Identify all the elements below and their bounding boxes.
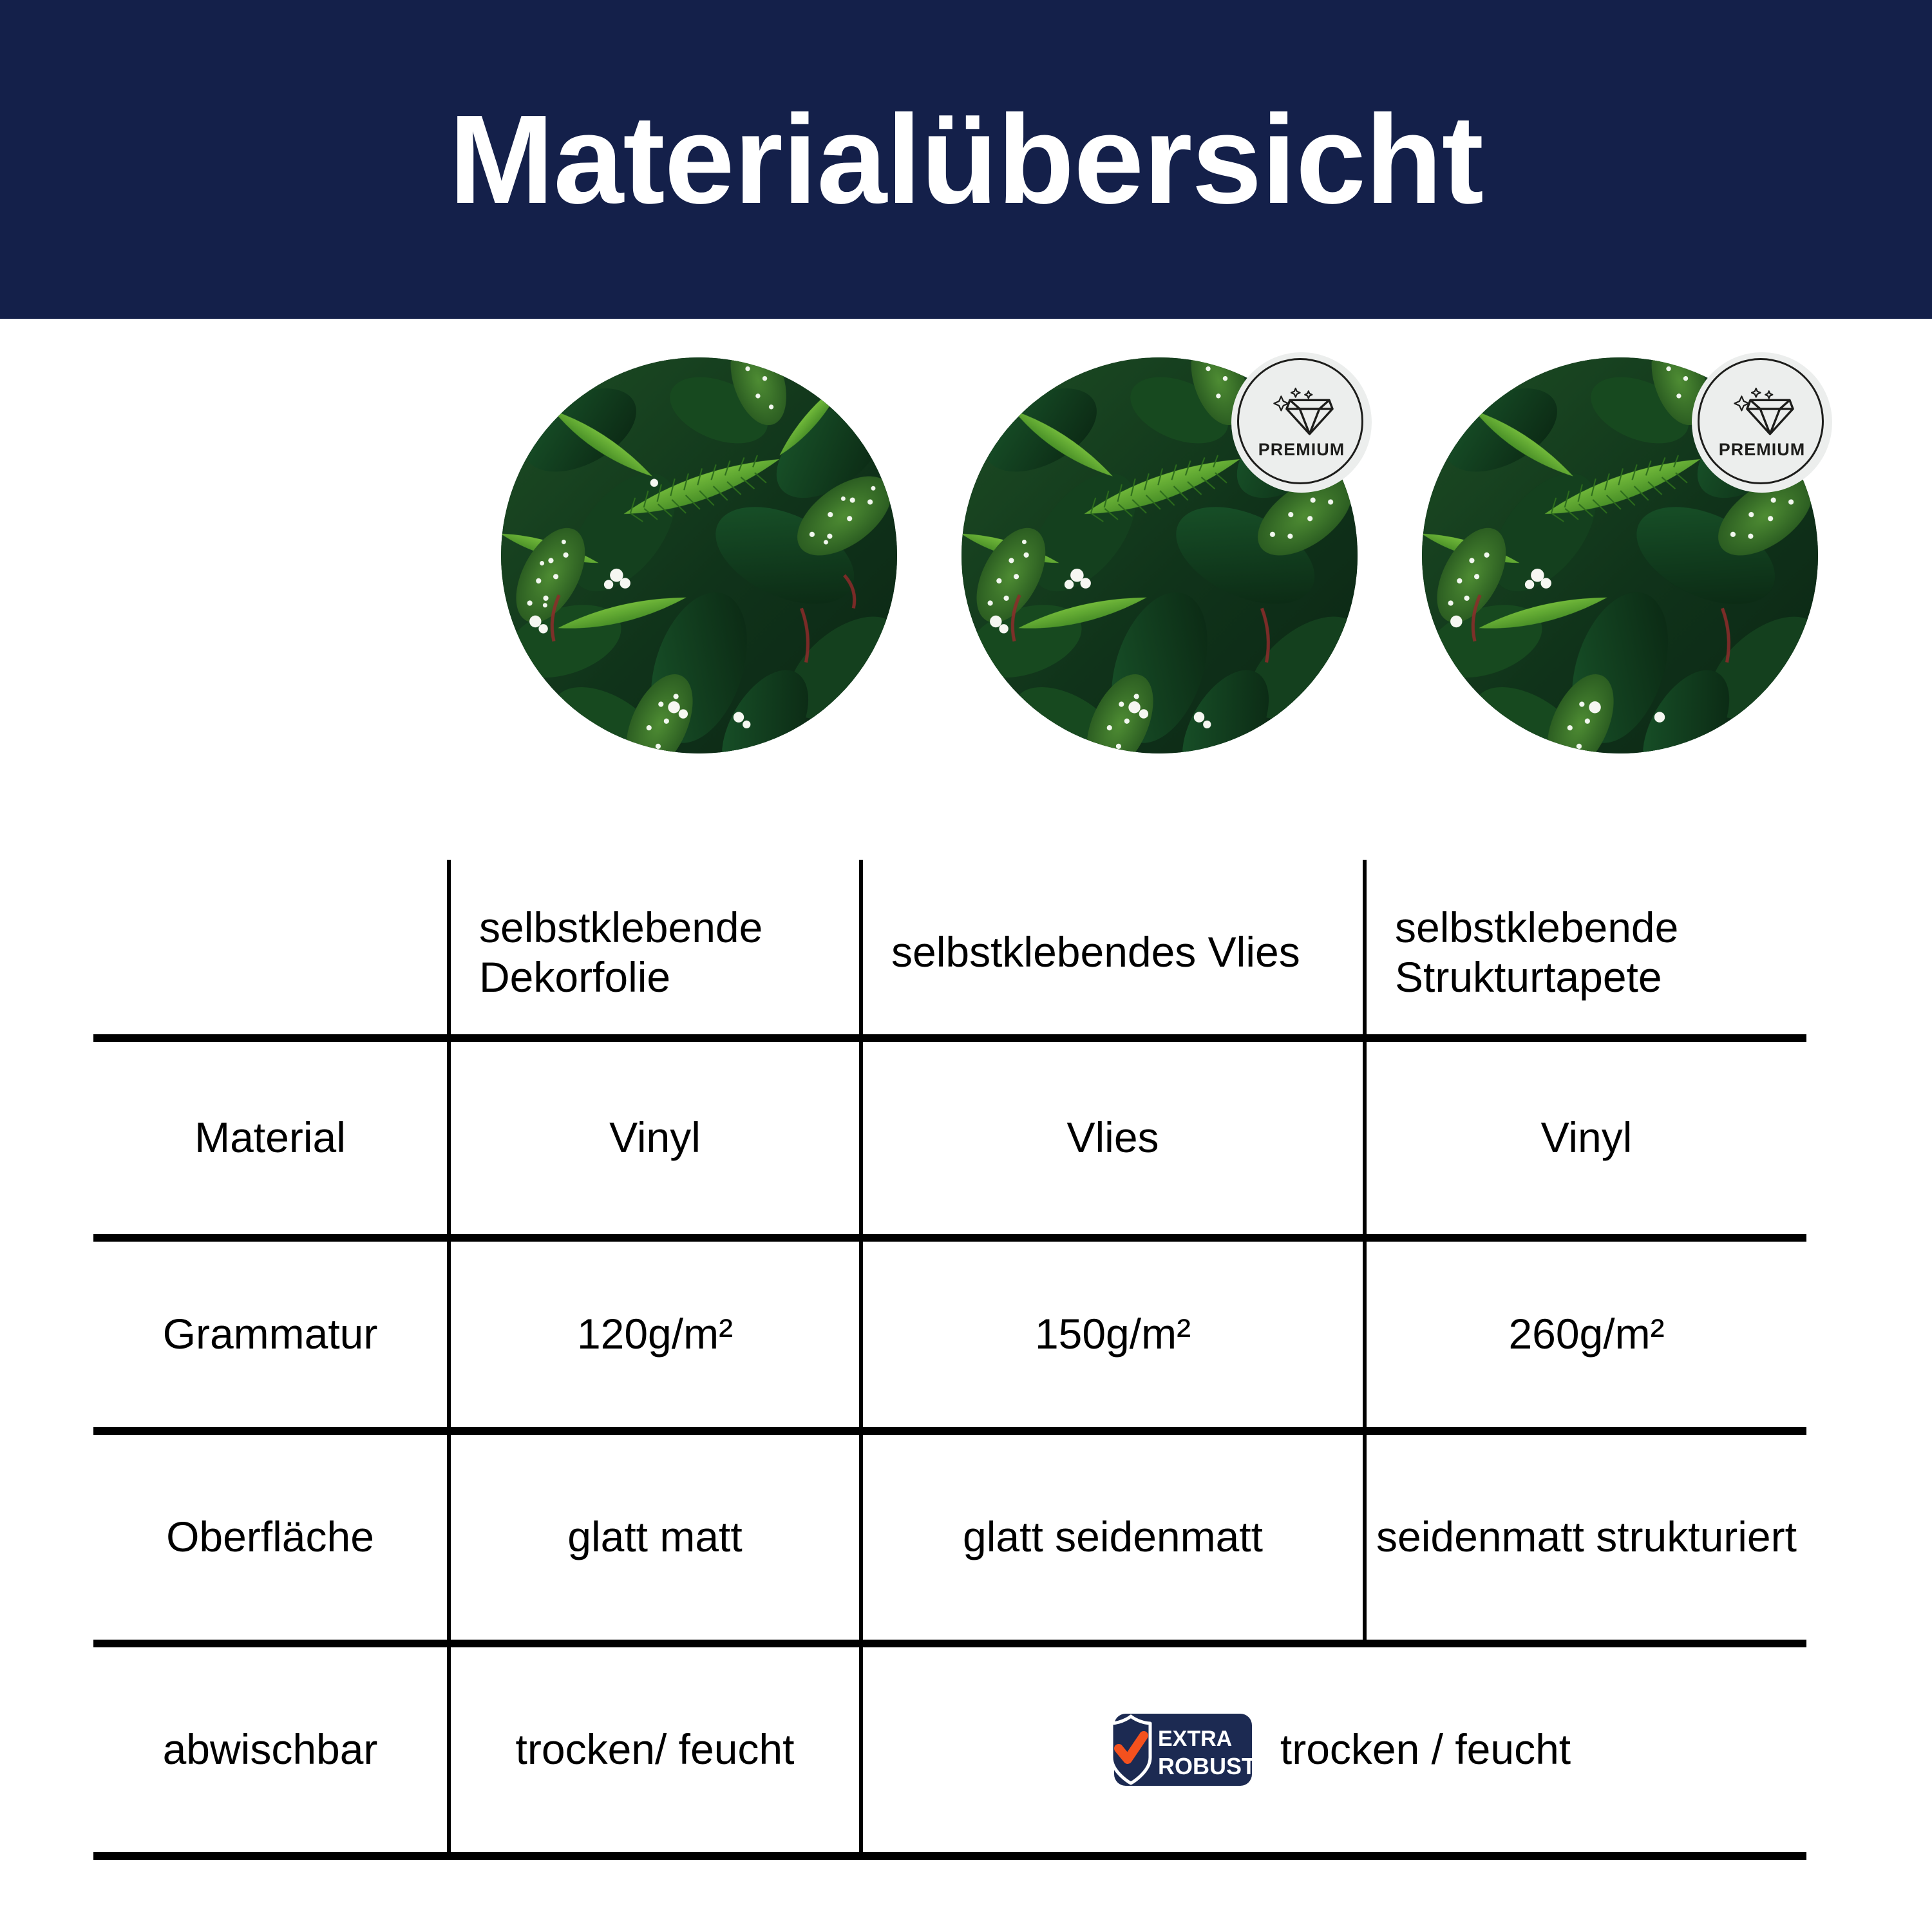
row-label-oberflaeche: Oberfläche — [93, 1431, 449, 1643]
thumbnail-3[interactable]: PREMIUM — [1422, 357, 1818, 753]
row-label-grammatur: Grammatur — [93, 1238, 449, 1431]
premium-badge: PREMIUM — [1231, 352, 1372, 493]
cell-abwischbar-vlies-strukturtapete: EXTRA ROBUST trocken / feucht — [861, 1643, 1806, 1856]
table-row-material: Material Vinyl Vlies Vinyl — [93, 1038, 1806, 1238]
extra-robust-badge: EXTRA ROBUST — [1099, 1711, 1253, 1788]
diamond-icon — [1271, 387, 1337, 437]
table-header-dekorfolie: selbstklebende Dekorfolie — [449, 860, 861, 1038]
material-overview-page: Materialübersicht — [0, 0, 1932, 1932]
product-image-circle-1 — [501, 357, 897, 753]
premium-badge-label: PREMIUM — [1258, 441, 1345, 459]
material-spec-table-wrapper: selbstklebende Dekorfolie selbstklebende… — [93, 860, 1806, 1860]
cell-oberflaeche-strukturtapete: seidenmatt strukturiert — [1365, 1431, 1806, 1643]
thumbnail-1[interactable] — [501, 357, 897, 753]
cell-abwischbar-dekorfolie: trocken/ feucht — [449, 1643, 861, 1856]
jungle-foliage-illustration — [501, 357, 897, 753]
table-row-abwischbar: abwischbar trocken/ feucht EXTRA ROBUST — [93, 1643, 1806, 1856]
cell-material-dekorfolie: Vinyl — [449, 1038, 861, 1238]
page-title: Materialübersicht — [0, 0, 1932, 319]
extra-robust-badge-graphic: EXTRA ROBUST — [1099, 1711, 1253, 1788]
table-header-vlies: selbstklebendes Vlies — [861, 860, 1365, 1038]
cell-oberflaeche-dekorfolie: glatt matt — [449, 1431, 861, 1643]
table-row-grammatur: Grammatur 120g/m² 150g/m² 260g/m² — [93, 1238, 1806, 1431]
cell-oberflaeche-vlies: glatt seidenmatt — [861, 1431, 1365, 1643]
cell-grammatur-vlies: 150g/m² — [861, 1238, 1365, 1431]
thumbnail-row: PREMIUM — [0, 357, 1932, 757]
cell-abwischbar-merged-text: trocken / feucht — [1280, 1725, 1571, 1775]
table-header-empty — [93, 860, 449, 1038]
extra-robust-line2: ROBUST — [1158, 1753, 1253, 1779]
row-label-material: Material — [93, 1038, 449, 1238]
premium-badge-label: PREMIUM — [1719, 441, 1806, 459]
cell-material-vlies: Vlies — [861, 1038, 1365, 1238]
header-band: Materialübersicht — [0, 0, 1932, 319]
extra-robust-line1: EXTRA — [1158, 1727, 1232, 1751]
table-header-row: selbstklebende Dekorfolie selbstklebende… — [93, 860, 1806, 1038]
table-header-strukturtapete: selbstklebende Strukturtapete — [1365, 860, 1806, 1038]
premium-badge: PREMIUM — [1692, 352, 1832, 493]
cell-grammatur-dekorfolie: 120g/m² — [449, 1238, 861, 1431]
table-row-oberflaeche: Oberfläche glatt matt glatt seidenmatt s… — [93, 1431, 1806, 1643]
thumbnail-2[interactable]: PREMIUM — [961, 357, 1358, 753]
cell-grammatur-strukturtapete: 260g/m² — [1365, 1238, 1806, 1431]
cell-material-strukturtapete: Vinyl — [1365, 1038, 1806, 1238]
row-label-abwischbar: abwischbar — [93, 1643, 449, 1856]
diamond-icon — [1732, 387, 1797, 437]
material-spec-table: selbstklebende Dekorfolie selbstklebende… — [93, 860, 1806, 1860]
